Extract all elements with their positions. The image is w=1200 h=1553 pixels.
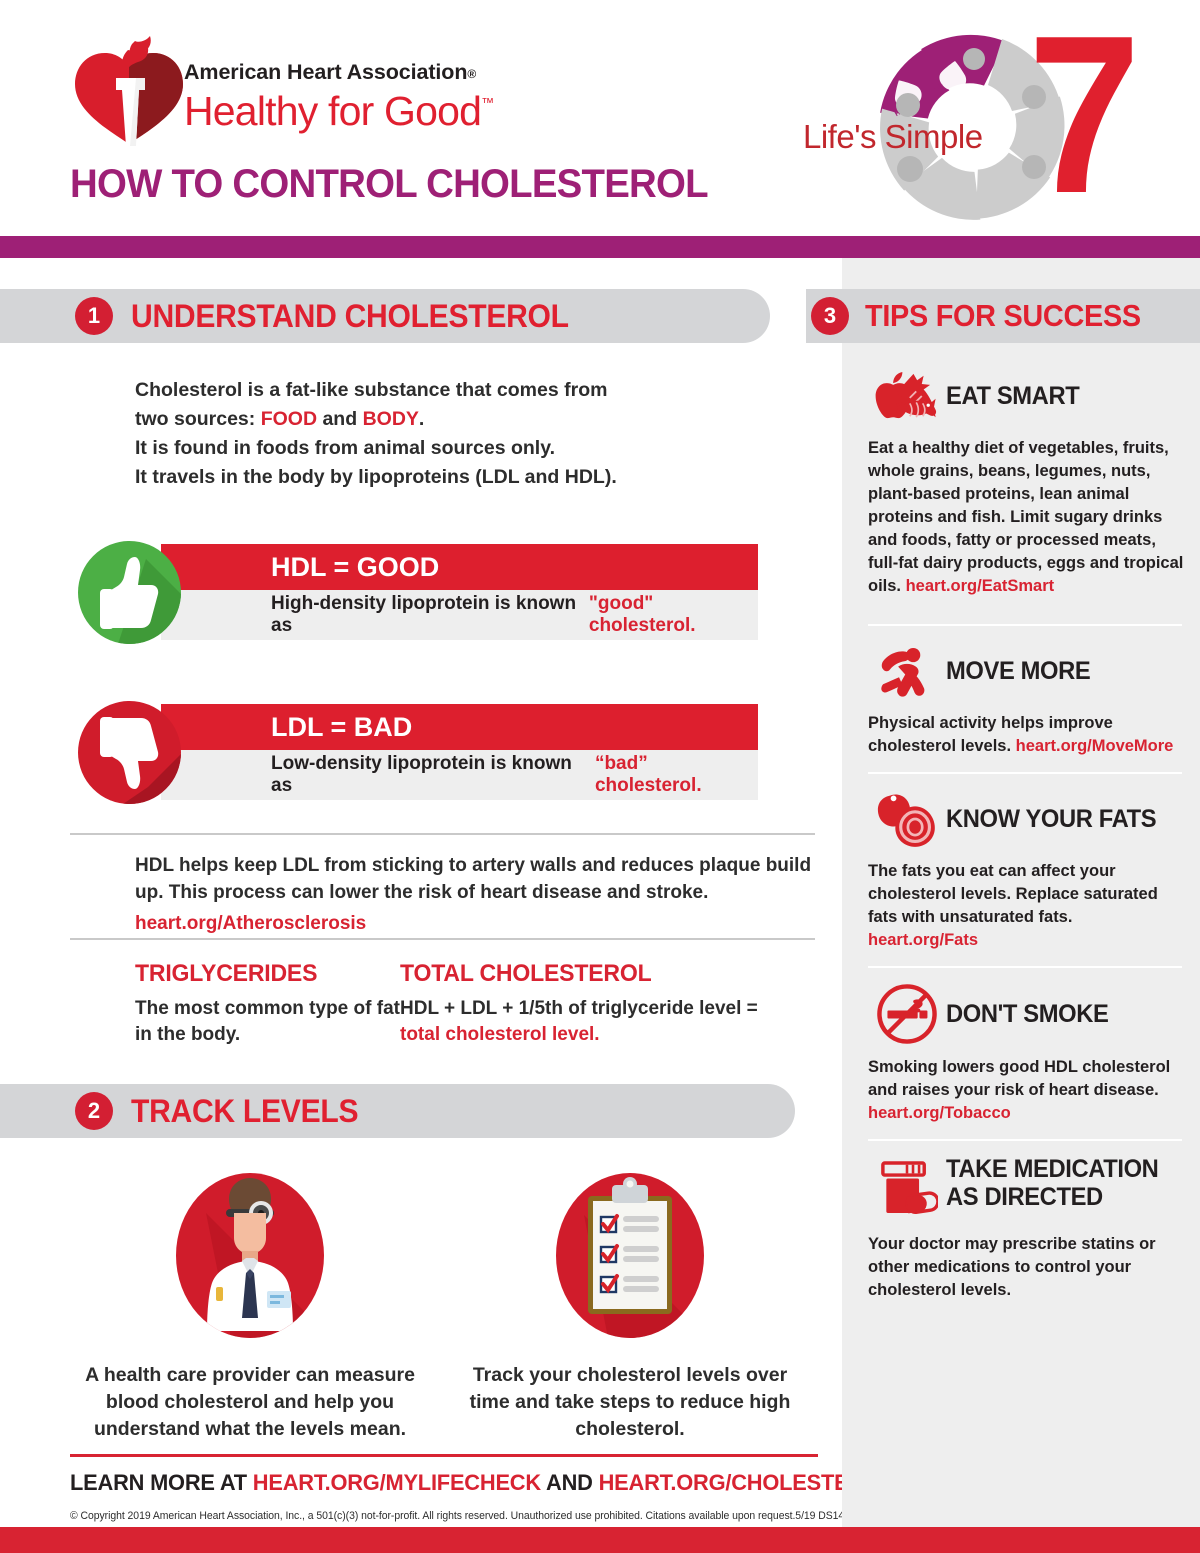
hdl-subtext-pre: High-density lipoprotein is known as bbox=[271, 593, 589, 637]
track-card-checklist-caption: Track your cholesterol levels over time … bbox=[458, 1362, 803, 1443]
tips-sidebar: 3 TIPS FOR SUCCESS bbox=[842, 258, 1200, 1527]
page-header: American Heart Association® Healthy for … bbox=[0, 0, 1200, 236]
apple-carrot-fish-icon bbox=[868, 366, 946, 426]
body-wrapper: 1 UNDERSTAND CHOLESTEROL Cholesterol is … bbox=[0, 258, 1200, 1527]
section-1-title: UNDERSTAND CHOLESTEROL bbox=[131, 298, 569, 335]
tips-divider-4 bbox=[868, 1139, 1182, 1141]
intro-line-2-post: . bbox=[419, 408, 424, 430]
tips-divider-1 bbox=[868, 624, 1182, 626]
intro-line-3: It is found in foods from animal sources… bbox=[135, 437, 555, 459]
doctor-icon bbox=[176, 1173, 324, 1338]
tip-take-medication-body: Your doctor may prescribe statins or oth… bbox=[868, 1235, 1156, 1299]
ldl-subtext-highlight: “bad” cholesterol. bbox=[595, 753, 758, 797]
thumbs-down-icon bbox=[78, 701, 181, 804]
tip-know-your-fats-link[interactable]: heart.org/Fats bbox=[868, 931, 978, 949]
learn-more-line: LEARN MORE AT HEART.ORG/MYLIFECHECK AND … bbox=[70, 1470, 807, 1496]
tip-take-medication: TAKE MEDICATION AS DIRECTED Your doctor … bbox=[842, 1155, 1200, 1302]
lifes-simple-7-label: Life's Simple bbox=[803, 118, 983, 156]
footer-red-bar bbox=[0, 1527, 1200, 1553]
avocado-icon bbox=[868, 790, 946, 848]
triglycerides-column: TRIGLYCERIDES The most common type of fa… bbox=[135, 960, 400, 1048]
tip-take-medication-title: TAKE MEDICATION AS DIRECTED bbox=[946, 1155, 1166, 1211]
tip-move-more-text: Physical activity helps improve choleste… bbox=[868, 712, 1184, 758]
tip-eat-smart: EAT SMART Eat a healthy diet of vegetabl… bbox=[842, 343, 1200, 598]
ldl-subtext: Low-density lipoprotein is known as “bad… bbox=[161, 750, 758, 800]
triglycerides-total-row: TRIGLYCERIDES The most common type of fa… bbox=[135, 960, 835, 1048]
section-1-number: 1 bbox=[75, 297, 113, 335]
track-card-provider: A health care provider can measure blood… bbox=[60, 1173, 440, 1443]
hdl-subtext-highlight: "good" cholesterol. bbox=[589, 593, 758, 637]
tip-move-more-link[interactable]: heart.org/MoveMore bbox=[1016, 737, 1174, 755]
intro-line-2-mid: and bbox=[317, 408, 363, 430]
intro-line-2-pre: two sources: bbox=[135, 408, 261, 430]
tip-know-your-fats-title: KNOW YOUR FATS bbox=[946, 805, 1156, 833]
aha-heart-torch-logo-icon bbox=[72, 34, 187, 146]
mylifecheck-link[interactable]: HEART.ORG/MYLIFECHECK bbox=[253, 1470, 541, 1495]
cholesterol-intro-text: Cholesterol is a fat-like substance that… bbox=[135, 376, 755, 492]
track-levels-cards: A health care provider can measure blood… bbox=[60, 1173, 820, 1443]
tips-divider-3 bbox=[868, 966, 1182, 968]
hdl-subtext: High-density lipoprotein is known as "go… bbox=[161, 590, 758, 640]
tip-take-medication-text: Your doctor may prescribe statins or oth… bbox=[868, 1233, 1184, 1302]
tip-dont-smoke-title: DON'T SMOKE bbox=[946, 1000, 1108, 1028]
divider-below-atherosclerosis bbox=[70, 938, 815, 940]
triglycerides-body: The most common type of fat in the body. bbox=[135, 996, 400, 1048]
track-card-checklist: Track your cholesterol levels over time … bbox=[440, 1173, 820, 1443]
tip-dont-smoke-text: Smoking lowers good HDL cholesterol and … bbox=[868, 1056, 1184, 1125]
atherosclerosis-paragraph: HDL helps keep LDL from sticking to arte… bbox=[135, 852, 825, 937]
atherosclerosis-text: HDL helps keep LDL from sticking to arte… bbox=[135, 855, 811, 903]
tips-divider-2 bbox=[868, 772, 1182, 774]
hdl-heading: HDL = GOOD bbox=[161, 544, 758, 590]
total-cholesterol-formula: HDL + LDL + 1/5th of triglyceride level … bbox=[400, 998, 758, 1019]
clipboard-checklist-icon bbox=[556, 1173, 704, 1338]
divider-above-atherosclerosis bbox=[70, 833, 815, 835]
atherosclerosis-link[interactable]: heart.org/Atherosclerosis bbox=[135, 910, 825, 937]
tip-dont-smoke-link[interactable]: heart.org/Tobacco bbox=[868, 1104, 1011, 1122]
hdl-block: HDL = GOOD High-density lipoprotein is k… bbox=[78, 541, 758, 644]
header-purple-divider bbox=[0, 236, 1200, 258]
stretching-person-icon bbox=[868, 643, 946, 699]
learn-more-prefix: LEARN MORE AT bbox=[70, 1470, 253, 1495]
tip-move-more-title: MOVE MORE bbox=[946, 657, 1090, 685]
intro-line-4: It travels in the body by lipoproteins (… bbox=[135, 466, 617, 488]
track-card-provider-caption: A health care provider can measure blood… bbox=[78, 1362, 423, 1443]
tip-move-more: MOVE MORE Physical activity helps improv… bbox=[842, 640, 1200, 758]
section-3-number: 3 bbox=[811, 297, 849, 335]
ldl-block: LDL = BAD Low-density lipoprotein is kno… bbox=[78, 701, 758, 804]
lifes-simple-7-number: 7 bbox=[1028, 14, 1141, 214]
intro-line-1: Cholesterol is a fat-like substance that… bbox=[135, 379, 607, 401]
section-2-header: 2 TRACK LEVELS bbox=[0, 1084, 795, 1138]
triglycerides-heading: TRIGLYCERIDES bbox=[135, 960, 389, 988]
tip-know-your-fats-body: The fats you eat can affect your cholest… bbox=[868, 862, 1158, 926]
pill-bottle-icon bbox=[868, 1155, 946, 1217]
infographic-page: American Heart Association® Healthy for … bbox=[0, 0, 1200, 1553]
tip-dont-smoke: DON'T SMOKE Smoking lowers good HDL chol… bbox=[842, 982, 1200, 1125]
no-smoking-icon bbox=[868, 982, 946, 1046]
tip-eat-smart-title: EAT SMART bbox=[946, 382, 1079, 410]
thumbs-up-icon bbox=[78, 541, 181, 644]
program-name: Healthy for Good™ bbox=[184, 88, 493, 135]
total-cholesterol-column: TOTAL CHOLESTEROL HDL + LDL + 1/5th of t… bbox=[400, 960, 820, 1048]
tip-eat-smart-text: Eat a healthy diet of vegetables, fruits… bbox=[868, 437, 1184, 598]
ldl-heading: LDL = BAD bbox=[161, 704, 758, 750]
total-cholesterol-result: total cholesterol level. bbox=[400, 1024, 600, 1045]
tips-list: EAT SMART Eat a healthy diet of vegetabl… bbox=[842, 343, 1200, 1302]
intro-body-keyword: BODY bbox=[363, 408, 419, 430]
copyright-text: © Copyright 2019 American Heart Associat… bbox=[70, 1510, 819, 1522]
tip-eat-smart-link[interactable]: heart.org/EatSmart bbox=[906, 577, 1055, 595]
section-1-header: 1 UNDERSTAND CHOLESTEROL bbox=[0, 289, 770, 343]
section-2-number: 2 bbox=[75, 1092, 113, 1130]
ldl-subtext-pre: Low-density lipoprotein is known as bbox=[271, 753, 595, 797]
section-3-header: 3 TIPS FOR SUCCESS bbox=[806, 289, 1200, 343]
tip-dont-smoke-body: Smoking lowers good HDL cholesterol and … bbox=[868, 1058, 1170, 1099]
aha-wordmark: American Heart Association® Healthy for … bbox=[184, 60, 493, 135]
section-3-title: TIPS FOR SUCCESS bbox=[865, 298, 1141, 334]
tip-know-your-fats: KNOW YOUR FATS The fats you eat can affe… bbox=[842, 788, 1200, 952]
section-2-title: TRACK LEVELS bbox=[131, 1093, 358, 1130]
tip-eat-smart-body: Eat a healthy diet of vegetables, fruits… bbox=[868, 439, 1183, 595]
intro-food-keyword: FOOD bbox=[261, 408, 317, 430]
hdl-banner: HDL = GOOD High-density lipoprotein is k… bbox=[161, 544, 758, 640]
total-cholesterol-body: HDL + LDL + 1/5th of triglyceride level … bbox=[400, 996, 820, 1048]
total-cholesterol-heading: TOTAL CHOLESTEROL bbox=[400, 960, 803, 988]
org-name: American Heart Association® bbox=[184, 60, 493, 85]
tip-know-your-fats-text: The fats you eat can affect your cholest… bbox=[868, 860, 1184, 952]
left-column: 1 UNDERSTAND CHOLESTEROL Cholesterol is … bbox=[0, 258, 842, 1527]
footer-red-rule bbox=[70, 1454, 818, 1457]
ldl-banner: LDL = BAD Low-density lipoprotein is kno… bbox=[161, 704, 758, 800]
page-title: HOW TO CONTROL CHOLESTEROL bbox=[70, 162, 708, 207]
learn-more-and: AND bbox=[541, 1470, 599, 1495]
